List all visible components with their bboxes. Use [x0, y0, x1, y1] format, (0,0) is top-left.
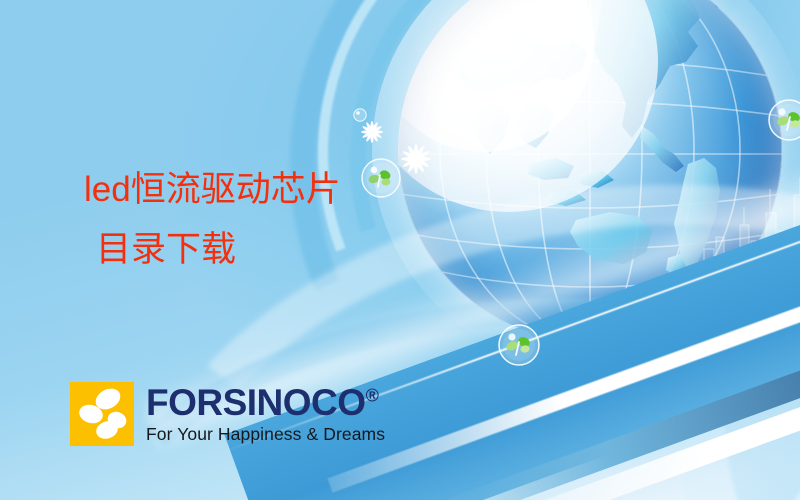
logo-brand-name: FORSINOCO® — [146, 384, 385, 422]
headline-block: led恒流驱动芯片 目录下载 — [78, 160, 408, 280]
logo-text-block: FORSINOCO® For Your Happiness & Dreams — [146, 382, 385, 445]
logo-mark-icon — [70, 382, 134, 446]
headline-line-2: 目录下载 — [78, 220, 408, 280]
headline-line-1: led恒流驱动芯片 — [78, 160, 408, 220]
logo-tagline: For Your Happiness & Dreams — [146, 423, 385, 445]
logo-brand-word: FORSINOCO — [146, 382, 366, 423]
registered-trademark-icon: ® — [366, 386, 379, 406]
company-logo[interactable]: FORSINOCO® For Your Happiness & Dreams — [70, 382, 385, 446]
promo-banner: led恒流驱动芯片 目录下载 FORSINOCO® For Your Happi… — [0, 0, 800, 500]
